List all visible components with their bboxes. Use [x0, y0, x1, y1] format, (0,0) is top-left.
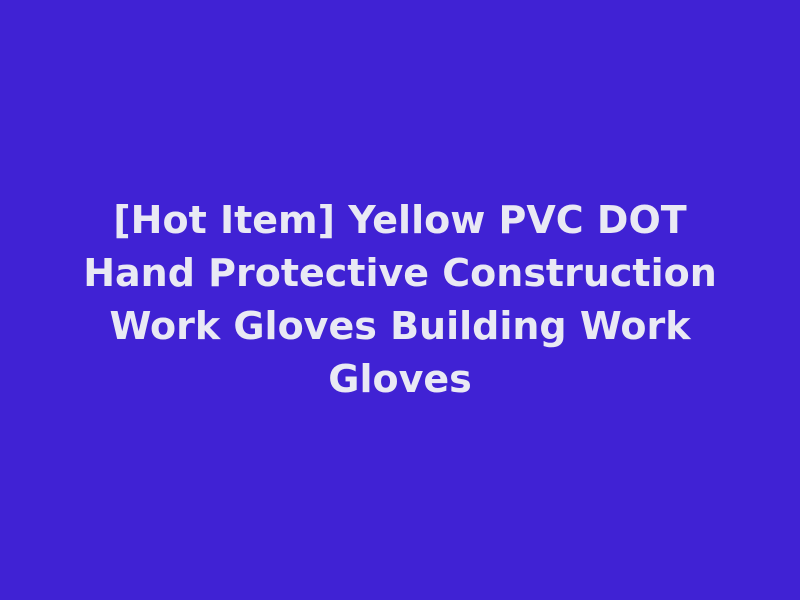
page-title: [Hot Item] Yellow PVC DOT Hand Protectiv…: [60, 194, 740, 406]
title-block: [Hot Item] Yellow PVC DOT Hand Protectiv…: [50, 194, 750, 406]
placeholder-image-card: [Hot Item] Yellow PVC DOT Hand Protectiv…: [0, 0, 800, 600]
